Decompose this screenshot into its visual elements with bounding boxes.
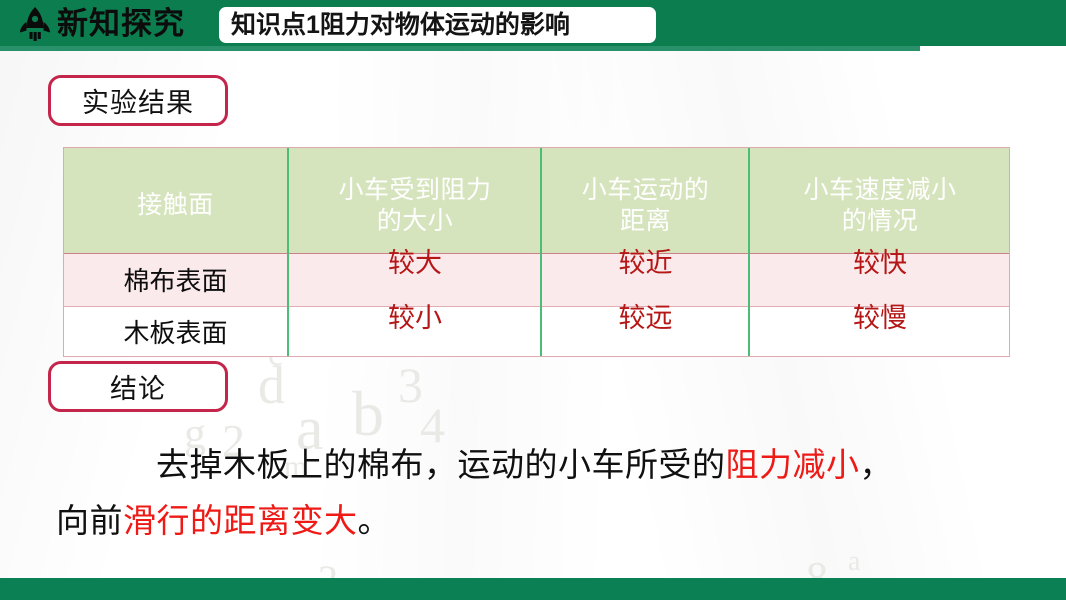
slide-canvas: dg2ab34cm28a 新知探究 知识点1阻力对物体运动的影响 实验结果 接触…	[0, 0, 1066, 600]
table-row: 较慢	[751, 303, 1009, 333]
table-divider-2	[540, 148, 542, 356]
conclusion-label-text: 结论	[110, 367, 166, 406]
watermark-glyph: a	[848, 548, 860, 576]
table-header-resistance: 小车受到阻力的大小	[290, 175, 540, 237]
conclusion-label: 结论	[48, 361, 228, 412]
table-row: 木板表面	[64, 318, 287, 348]
table-header-speed-decrease: 小车速度减小的情况	[751, 175, 1009, 237]
experiment-result-table: 接触面 小车受到阻力的大小 小车运动的距离 小车速度减小的情况 棉布表面 较大 …	[63, 147, 1010, 357]
experiment-result-label-text: 实验结果	[82, 81, 194, 120]
conclusion-line1-highlight: 阻力减小	[726, 446, 860, 483]
table-divider-3	[748, 148, 750, 356]
footer-bar	[0, 578, 1066, 600]
conclusion-line1-text: 去掉木板上的棉布，运动的小车所受的	[156, 446, 726, 483]
watermark-glyph: 3	[398, 360, 423, 410]
table-row: 较远	[543, 303, 748, 333]
table-row: 较快	[751, 248, 1009, 278]
section-title: 新知探究	[57, 3, 185, 45]
table-header-distance: 小车运动的距离	[543, 175, 748, 237]
table-divider-1	[287, 148, 289, 356]
table-header-surface: 接触面	[64, 190, 287, 221]
table-row: 较近	[543, 248, 748, 278]
lesson-topic-title: 知识点1阻力对物体运动的影响	[231, 8, 570, 42]
experiment-result-label: 实验结果	[48, 75, 228, 126]
conclusion-line2-text: 向前	[56, 502, 123, 539]
table-row: 较大	[290, 248, 540, 278]
conclusion-paragraph: 去掉木板上的棉布，运动的小车所受的阻力减小，向前滑行的距离变大。	[56, 437, 1056, 549]
watermark-glyph: d	[258, 358, 285, 412]
conclusion-line2-punctuation: 。	[358, 502, 392, 539]
conclusion-line1-punctuation: ，	[860, 446, 894, 483]
header-bar-underline	[0, 46, 920, 51]
conclusion-line2-highlight: 滑行的距离变大	[123, 502, 358, 539]
rocket-icon	[17, 6, 53, 44]
table-row: 棉布表面	[64, 266, 287, 296]
table-row: 较小	[290, 303, 540, 333]
